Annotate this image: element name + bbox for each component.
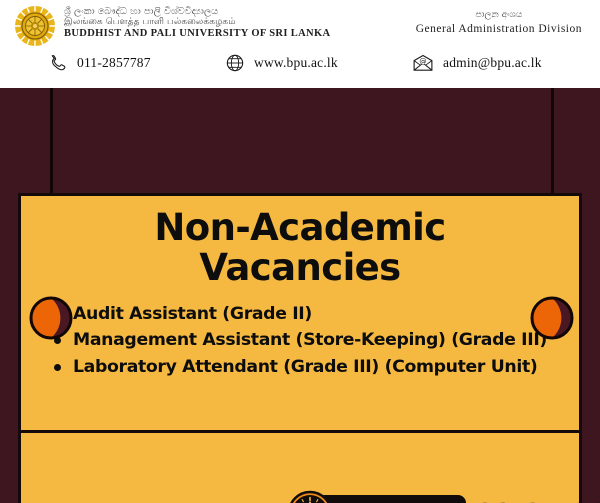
list-item: Laboratory Attendant (Grade III) (Comput… bbox=[51, 354, 579, 380]
deadline-badge: DEADLINE 02.01.2026 bbox=[286, 489, 600, 503]
contact-website-label: www.bpu.ac.lk bbox=[254, 55, 338, 71]
phone-icon bbox=[48, 53, 68, 73]
page-title: Non-Academic Vacancies bbox=[21, 196, 579, 287]
title-line-1: Non-Academic bbox=[154, 206, 445, 249]
vacancy-card: Non-Academic Vacancies Audit Assistant (… bbox=[18, 193, 582, 433]
email-icon: @ bbox=[412, 53, 434, 73]
contact-email-label: admin@bpu.ac.lk bbox=[443, 55, 542, 71]
contact-phone: 011-2857787 bbox=[48, 53, 151, 73]
division-name-sinhala: පාලන අංශය bbox=[416, 10, 582, 22]
division-name-english: General Administration Division bbox=[416, 22, 582, 37]
university-name-block: ශ්‍රී ලංකා බෞද්ධ හා පාලි විශ්වවිද්‍යාලය … bbox=[64, 6, 330, 40]
division-block: පාලන අංශය General Administration Divisio… bbox=[416, 10, 582, 37]
contact-website: www.bpu.ac.lk bbox=[225, 53, 338, 73]
hanging-circle-ornament-left bbox=[29, 296, 73, 340]
contact-phone-label: 011-2857787 bbox=[77, 55, 151, 71]
hanging-circle-ornament-right bbox=[530, 296, 574, 340]
poster-body: Non-Academic Vacancies Audit Assistant (… bbox=[0, 88, 600, 503]
university-name-tamil: இலங்கை பௌத்த பாளி பல்கலைக்கழகம் bbox=[64, 17, 330, 28]
vacancy-list: Audit Assistant (Grade II) Management As… bbox=[21, 301, 579, 380]
title-line-2: Vacancies bbox=[51, 248, 549, 288]
university-name-english: BUDDHIST AND PALI UNIVERSITY OF SRI LANK… bbox=[64, 28, 330, 40]
list-item: Audit Assistant (Grade II) bbox=[51, 301, 579, 327]
university-logo bbox=[14, 5, 56, 47]
contact-email: @ admin@bpu.ac.lk bbox=[412, 53, 542, 73]
buddhist-pali-university-emblem-icon bbox=[14, 5, 56, 47]
clock-icon bbox=[286, 489, 334, 503]
list-item: Management Assistant (Store-Keeping) (Gr… bbox=[51, 327, 579, 353]
deadline-date: 02.01.2026 bbox=[475, 497, 600, 503]
poster-header: ශ්‍රී ලංකා බෞද්ධ හා පාලි විශ්වවිද්‍යාලය … bbox=[0, 0, 600, 88]
university-name-sinhala: ශ්‍රී ලංකා බෞද්ධ හා පාලි විශ්වවිද්‍යාලය bbox=[64, 6, 330, 17]
svg-text:@: @ bbox=[419, 57, 426, 66]
globe-icon bbox=[225, 53, 245, 73]
header-top-row: ශ්‍රී ලංකා බෞද්ධ හා පාලි විශ්වවිද්‍යාලය … bbox=[0, 0, 600, 46]
contact-row: 011-2857787 www.bpu.ac.lk @ adm bbox=[0, 50, 600, 84]
vacancy-poster: ශ්‍රී ලංකා බෞද්ධ හා පාලි විශ්වවිද්‍යාලය … bbox=[0, 0, 600, 503]
